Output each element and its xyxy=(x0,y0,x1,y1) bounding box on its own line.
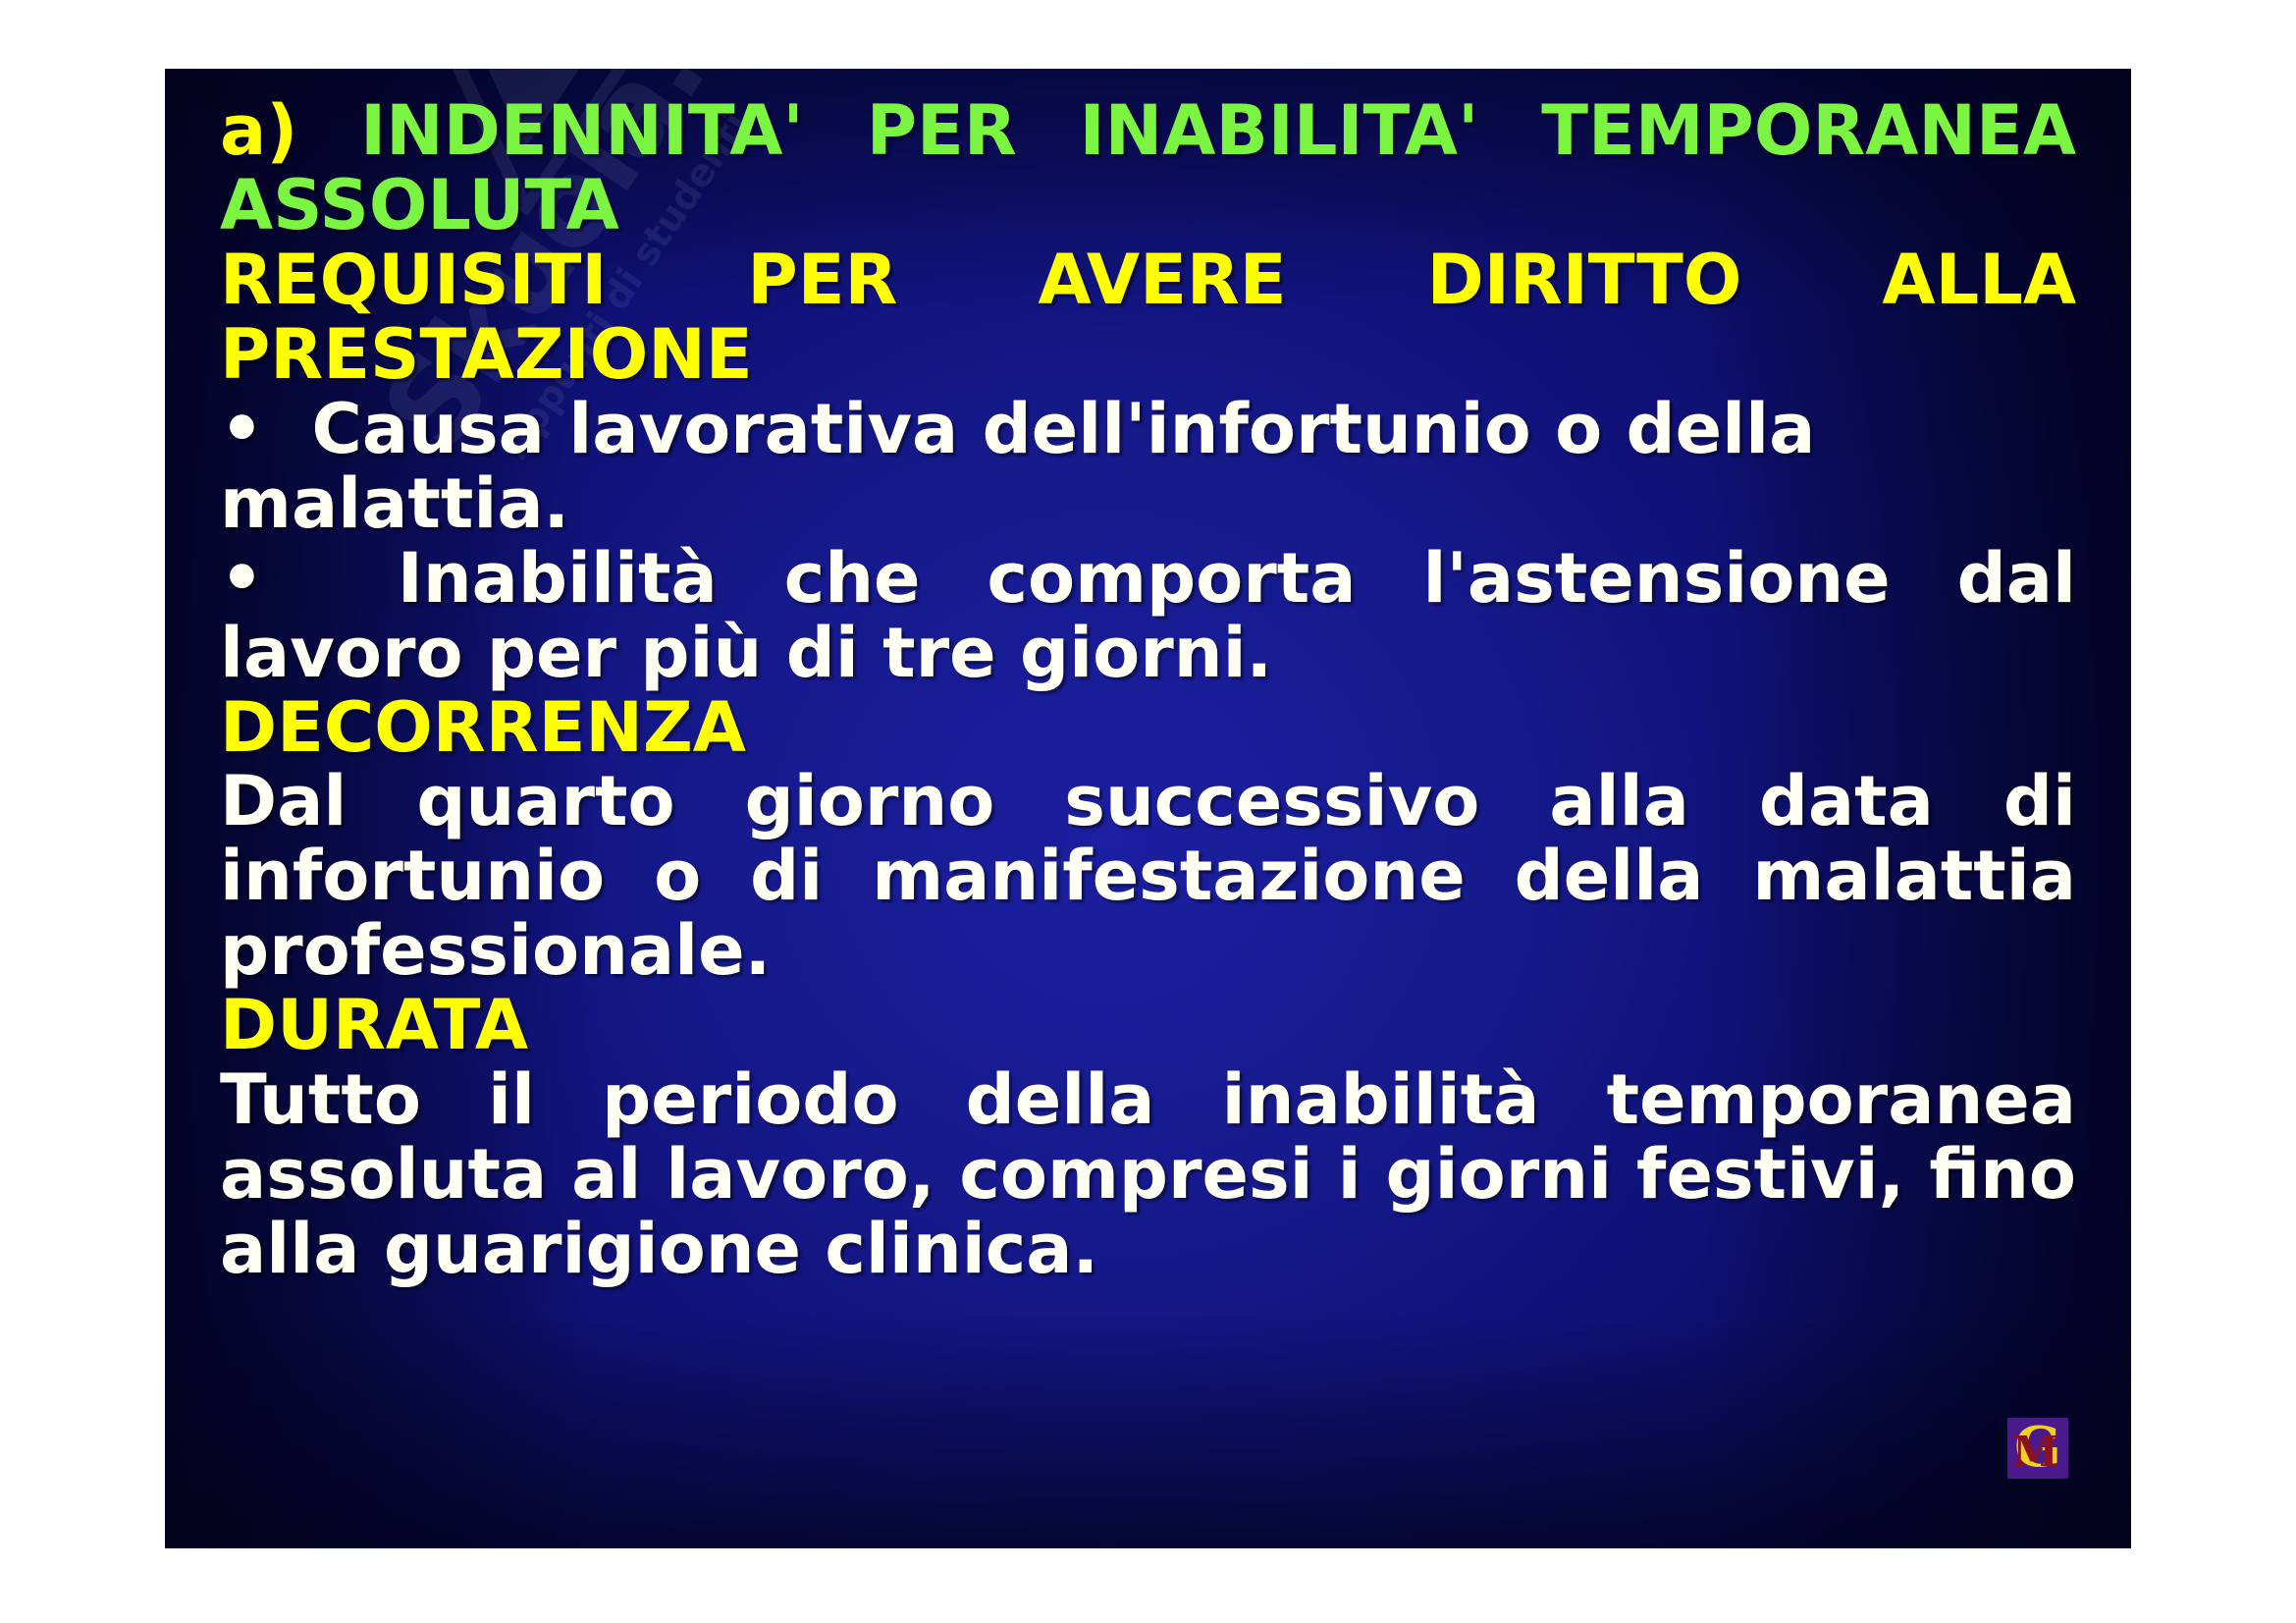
page-canvas: Skuola.net Appunti di studenti a) INDENN… xyxy=(0,0,2296,1623)
gm-logo: G M xyxy=(2007,1418,2068,1479)
presentation-slide: Skuola.net Appunti di studenti a) INDENN… xyxy=(165,69,2131,1548)
bullet-item-1: • Causa lavorativa dell'infortunio o del… xyxy=(220,393,2076,542)
bullet-item-2-text: Inabilità che comporta l'astensione dal … xyxy=(220,538,2076,693)
section-heading-decorrenza: DECORRENZA xyxy=(220,691,2076,766)
slide-text-body: a) INDENNITA' PER INABILITA' TEMPORANEA … xyxy=(165,69,2131,1548)
logo-letter-m: M xyxy=(2012,1432,2058,1473)
bullet-glyph: • xyxy=(220,389,264,469)
bullet-glyph: • xyxy=(220,538,264,619)
section-heading-durata: DURATA xyxy=(220,989,2076,1063)
section-body-decorrenza: Dal quarto giorno successivo alla data d… xyxy=(220,765,2076,989)
bullet-item-2: • Inabilità che comporta l'astensione da… xyxy=(220,542,2076,691)
slide-title: a) INDENNITA' PER INABILITA' TEMPORANEA … xyxy=(220,94,2076,243)
bullet-item-1-text: Causa lavorativa dell'infortunio o della… xyxy=(220,389,1815,544)
slide-title-text: INDENNITA' PER INABILITA' TEMPORANEA ASS… xyxy=(220,90,2076,245)
section-body-durata: Tutto il periodo della inabilità tempora… xyxy=(220,1063,2076,1287)
section-heading-requisiti: REQUISITI PER AVERE DIRITTO ALLA PRESTAZ… xyxy=(220,243,2076,393)
slide-title-prefix: a) xyxy=(220,90,297,171)
